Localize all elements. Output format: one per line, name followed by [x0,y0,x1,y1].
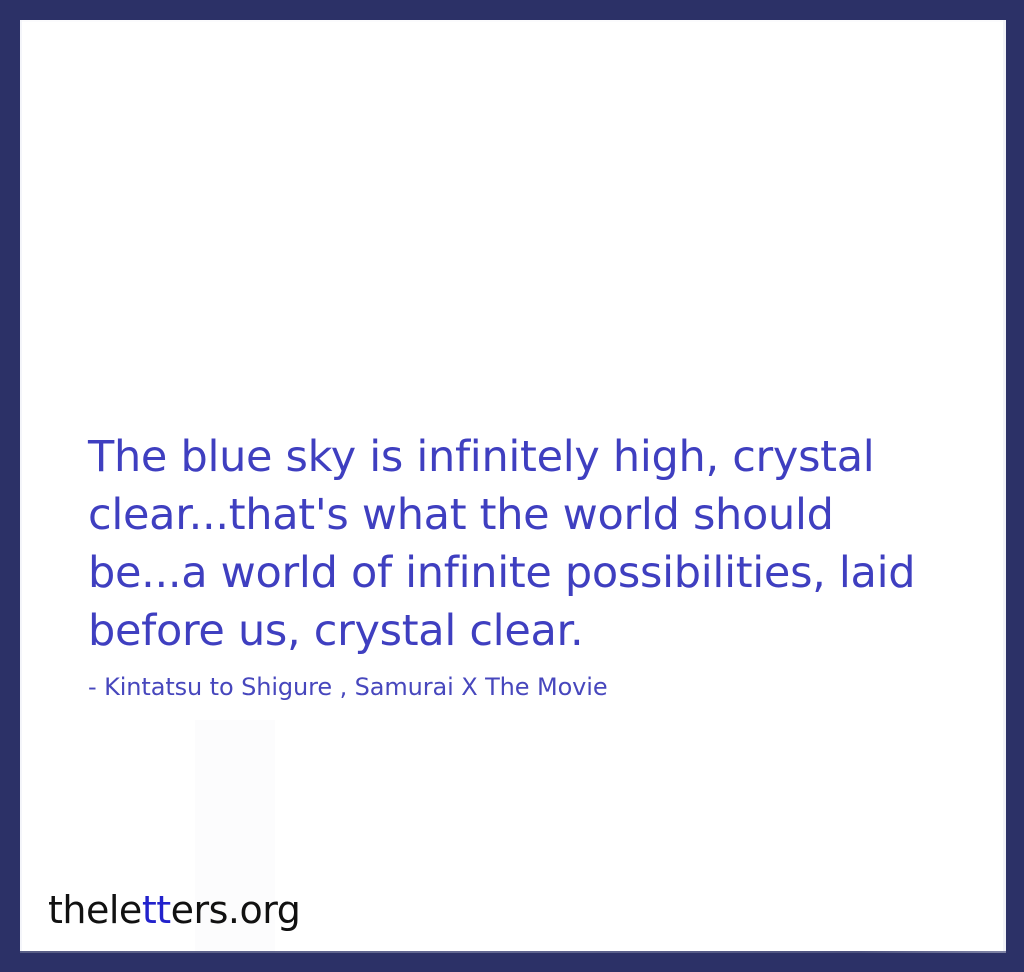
canvas-bottom-edge [20,951,1006,953]
quote-line-4: before us, crystal clear. [88,602,948,660]
card-canvas: The blue sky is infinitely high, crystal… [20,20,1006,953]
quote-line-3: be...a world of infinite possibilities, … [88,544,948,602]
quote-line-1: The blue sky is infinitely high, crystal [88,428,948,486]
site-logo[interactable]: theletters.org [48,886,300,934]
quote-attribution: - Kintatsu to Shigure , Samurai X The Mo… [88,672,948,702]
quote-block: The blue sky is infinitely high, crystal… [88,428,948,702]
quote-card: The blue sky is infinitely high, crystal… [0,0,1024,972]
logo-text-leading: thele [48,888,142,932]
quote-line-2: clear...that's what the world should [88,486,948,544]
logo-text-accent: tt [142,888,171,932]
logo-text-trailing: ers.org [171,888,301,932]
